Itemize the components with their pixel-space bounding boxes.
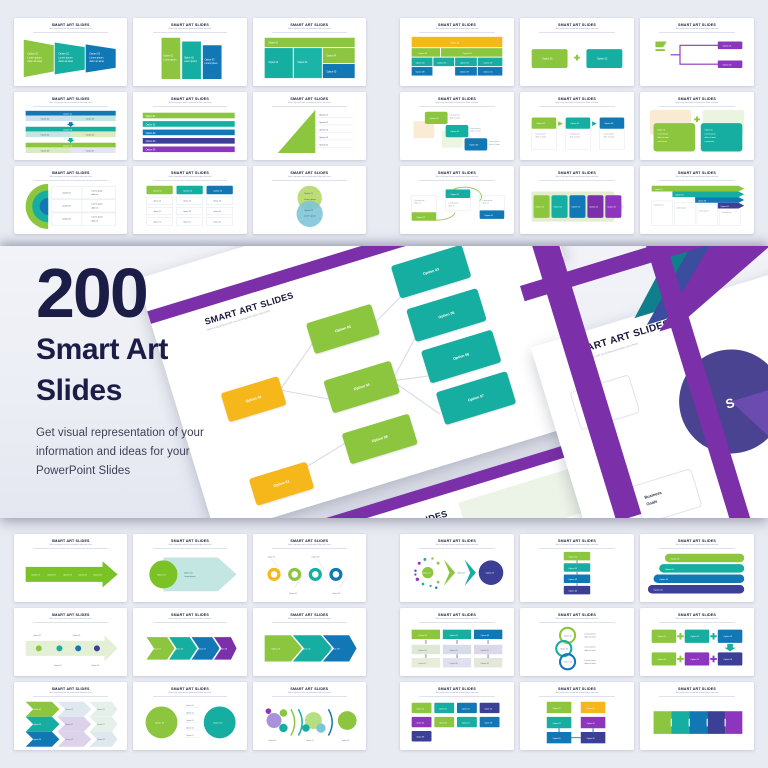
svg-text:Option 03: Option 03: [86, 118, 95, 121]
thumbnail-card[interactable]: SMART ART SLIDES Make a big impact with …: [133, 534, 246, 602]
thumbnail-card[interactable]: SMART ART SLIDES Make a big impact with …: [253, 608, 366, 676]
svg-text:Lorem ipsum: Lorem ipsum: [657, 133, 668, 136]
svg-text:Lorem ipsum: Lorem ipsum: [470, 127, 481, 130]
svg-text:Option 01: Option 01: [155, 721, 165, 724]
slide-subtitle: Make a big impact with our professional …: [33, 29, 108, 33]
slide-body: Option 01Option 02Option 03 Lorem ipsumd…: [526, 624, 628, 673]
slide-body: Option 01Option 02Option 03 Option 04Opt…: [526, 182, 628, 231]
svg-text:Option 08: Option 08: [484, 722, 492, 725]
svg-text:Option 06: Option 06: [586, 737, 594, 740]
svg-text:Option 05: Option 05: [63, 145, 73, 148]
slide-body: Option 01Option 03 Option 02: [406, 550, 508, 599]
slide-body: Option 01Option 02Option 03: [259, 698, 360, 747]
six-box-plus-grid-diagram: Option 01Option 02Option 03 Option 04Opt…: [646, 624, 748, 673]
svg-text:Option 05: Option 05: [97, 708, 105, 711]
thumbnail-card[interactable]: SMART ART SLIDES Make a big impact with …: [14, 92, 127, 160]
thumbnail-card[interactable]: SMART ART SLIDES Make a big impact with …: [400, 608, 514, 676]
svg-text:Option 02: Option 02: [184, 56, 195, 59]
svg-text:Option 02: Option 02: [449, 634, 458, 637]
hero-number: 200: [36, 262, 286, 325]
svg-text:Option 02: Option 02: [675, 194, 683, 197]
svg-text:Option 01: Option 01: [33, 634, 41, 637]
two-circles-list-diagram: Option 01Option 02 Option 03Option 04Opt…: [139, 698, 240, 747]
svg-text:Option 03: Option 03: [89, 53, 100, 56]
svg-text:Lorem ipsum: Lorem ipsum: [603, 133, 614, 136]
bracket-tree-diagram: Option 01Option 02: [646, 34, 748, 83]
svg-text:Option 01: Option 01: [535, 206, 544, 209]
svg-text:Option 05: Option 05: [93, 573, 102, 576]
slide-subtitle: Make a big impact with our professional …: [659, 619, 734, 623]
svg-text:Lorem ipsum: Lorem ipsum: [585, 659, 596, 662]
svg-text:Lorem ipsum: Lorem ipsum: [449, 114, 460, 117]
thumbnail-card[interactable]: SMART ART SLIDES Make a big impact with …: [133, 18, 246, 86]
svg-text:Option 04: Option 04: [78, 573, 87, 576]
svg-text:dolor sit amet: dolor sit amet: [449, 116, 460, 119]
hero-text-block: 200 Smart Art Slides Get visual represen…: [36, 262, 286, 481]
slide-subtitle: Make a big impact with our professional …: [659, 29, 734, 33]
svg-text:Option 01: Option 01: [267, 556, 275, 559]
svg-text:Option 07: Option 07: [462, 722, 470, 725]
svg-text:Option 02: Option 02: [450, 130, 460, 133]
horizontal-bars-diagram: Option 01Option 02Option 03 Option 04Opt…: [139, 108, 240, 157]
svg-text:Lorem ipsum: Lorem ipsum: [585, 632, 596, 635]
svg-text:Option 02: Option 02: [47, 573, 56, 576]
chevron-rows-diagram: Option 01Option 02Option 03 Option 04Opt…: [20, 698, 121, 747]
timeline-dots-diagram: Option 01Option 02 Option 03Option 04: [20, 624, 121, 673]
slide-body: Option 01Option 02 Option 03Option 04: [20, 624, 121, 673]
thumbnail-card[interactable]: SMART ART SLIDES Make a big impact with …: [400, 92, 514, 160]
svg-text:Option 02: Option 02: [33, 723, 41, 726]
slide-body: Option 01Option 02Option 03Option 04: [526, 550, 628, 599]
thumbnail-card[interactable]: SMART ART SLIDES Make a big impact with …: [253, 166, 366, 234]
svg-text:Option 05: Option 05: [146, 149, 157, 152]
svg-text:Option 07: Option 07: [186, 734, 194, 737]
svg-text:Option 03: Option 03: [484, 214, 493, 217]
svg-text:Option 02: Option 02: [306, 739, 314, 742]
svg-text:Lorem ipsum: Lorem ipsum: [91, 217, 103, 219]
thumbnail-card[interactable]: SMART ART SLIDES Make a big impact with …: [253, 92, 366, 160]
slide-body: Option 01Lorem ipsum Option 02Lorem ipsu…: [139, 34, 240, 83]
svg-text:dolor sit amet: dolor sit amet: [705, 136, 717, 139]
svg-text:Option 04: Option 04: [589, 206, 598, 209]
hero-heading-line2: Slides: [36, 374, 286, 407]
hero-paragraph-line2: information and ideas for your: [36, 443, 286, 462]
thumbnail-card[interactable]: SMART ART SLIDES Make a big impact with …: [520, 166, 634, 234]
slide-subtitle: Make a big impact with our professional …: [539, 177, 614, 181]
dot-chain-diagram: Option 01Option 02Option 03Option 04: [259, 550, 360, 599]
svg-text:Option 01: Option 01: [152, 647, 161, 650]
slide-subtitle: Make a big impact with our professional …: [153, 545, 228, 549]
svg-text:Option 04: Option 04: [654, 589, 664, 592]
slide-subtitle: Make a big impact with our professional …: [539, 29, 614, 33]
svg-text:Lorem ipsum: Lorem ipsum: [184, 576, 196, 578]
svg-text:Lorem ipsum: Lorem ipsum: [58, 56, 72, 59]
svg-text:Option 04: Option 04: [91, 664, 99, 667]
svg-text:dolor sit amet: dolor sit amet: [489, 143, 500, 146]
svg-text:Option 01: Option 01: [569, 556, 578, 559]
svg-text:consectetur: consectetur: [657, 140, 667, 143]
svg-text:Option 02: Option 02: [213, 721, 223, 724]
circle-arrow-diagram: Option 01 Option 02Lorem ipsum: [139, 550, 240, 599]
svg-text:Option 02: Option 02: [62, 204, 71, 207]
callout-card: Business Goals: [632, 468, 703, 518]
svg-text:Option 02: Option 02: [569, 567, 578, 570]
hero-paragraph-line3: PowerPoint Slides: [36, 462, 286, 481]
svg-text:Option 04: Option 04: [418, 649, 426, 652]
svg-text:Option 05: Option 05: [326, 71, 337, 74]
thumbnail-card[interactable]: SMART ART SLIDES Make a big impact with …: [14, 166, 127, 234]
svg-text:Option 09: Option 09: [97, 738, 105, 741]
svg-text:Option 01: Option 01: [722, 45, 732, 48]
thumbnail-card[interactable]: SMART ART SLIDES Make a big impact with …: [133, 166, 246, 234]
svg-text:Option 01: Option 01: [164, 55, 175, 58]
svg-text:Option 05: Option 05: [86, 134, 95, 137]
slide-subtitle: Make a big impact with our professional …: [419, 545, 494, 549]
svg-text:Option 04: Option 04: [319, 136, 329, 139]
svg-text:Option 04: Option 04: [41, 134, 50, 137]
hero-heading-line1: Smart Art: [36, 333, 286, 366]
slide-subtitle: Make a big impact with our professional …: [419, 177, 494, 181]
svg-text:Option 03: Option 03: [571, 206, 580, 209]
svg-text:Option 07: Option 07: [97, 723, 105, 726]
svg-text:Option 02: Option 02: [418, 52, 428, 55]
svg-text:Option 03: Option 03: [485, 572, 494, 575]
svg-text:dolor sit amet: dolor sit amet: [603, 135, 614, 138]
svg-text:Option 01: Option 01: [319, 114, 329, 117]
svg-text:Lorem ipsum: Lorem ipsum: [415, 199, 425, 202]
svg-text:Option 09: Option 09: [213, 210, 221, 213]
thumbnail-card[interactable]: SMART ART SLIDES Make a big impact with …: [400, 534, 514, 602]
svg-text:Lorem ipsum: Lorem ipsum: [654, 204, 664, 207]
svg-text:Option 08: Option 08: [65, 738, 73, 741]
svg-text:Option 03: Option 03: [197, 647, 206, 650]
svg-text:Option 02: Option 02: [268, 61, 279, 64]
svg-text:Lorem ipsum: Lorem ipsum: [304, 215, 316, 218]
svg-text:dolor sit amet: dolor sit amet: [470, 130, 481, 133]
svg-text:Option 01: Option 01: [542, 58, 553, 61]
svg-text:Option 08: Option 08: [415, 71, 425, 74]
svg-text:Option 02: Option 02: [722, 64, 732, 67]
stepped-cards-diagram: Option 01Option 02Option 03 Lorem ipsumd…: [406, 108, 508, 157]
svg-text:Option 03: Option 03: [330, 647, 340, 650]
svg-text:Option 01: Option 01: [450, 42, 460, 45]
slide-body: Option 01Option 02: [646, 34, 748, 83]
svg-text:Option 05: Option 05: [183, 200, 191, 203]
matrix-table-diagram: Option 01 Option 02Option 03 Option 04Op…: [259, 34, 360, 83]
svg-text:Option 07: Option 07: [418, 662, 426, 665]
svg-text:Option 02: Option 02: [439, 707, 447, 710]
vertical-bars-diagram: Option 01Lorem ipsum Option 02Lorem ipsu…: [139, 34, 240, 83]
thumbnail-card[interactable]: SMART ART SLIDES Make a big impact with …: [640, 608, 754, 676]
thumbnail-card[interactable]: SMART ART SLIDES Make a big impact with …: [520, 682, 634, 750]
svg-text:Option 03: Option 03: [552, 722, 560, 725]
svg-text:Option 01: Option 01: [63, 113, 73, 116]
svg-text:Option 07: Option 07: [153, 210, 161, 213]
slide-body: Option 01Lorem ipsum Option 02Lorem ipsu…: [259, 182, 360, 231]
slide-body: Option 01Lorem ipsumdolor sit ametconsec…: [646, 108, 748, 157]
svg-text:Option 01: Option 01: [418, 634, 427, 637]
svg-text:Option 02: Option 02: [597, 58, 608, 61]
svg-text:Option 04: Option 04: [586, 722, 594, 725]
svg-text:dolor sit amet: dolor sit amet: [89, 60, 104, 63]
svg-text:Option 03: Option 03: [319, 129, 329, 132]
thumbnail-card[interactable]: SMART ART SLIDES Make a big impact with …: [14, 608, 127, 676]
slide-body: Option 01Option 02Option 03 Option 04Opt…: [20, 550, 121, 599]
slide-subtitle: Make a big impact with our professional …: [659, 545, 734, 549]
svg-text:Option 02: Option 02: [570, 122, 580, 125]
slide-body: Option 01Option 02Option 03Option 04 Lor…: [646, 182, 748, 231]
svg-text:Option 03: Option 03: [297, 61, 308, 64]
slide-subtitle: Make a big impact with our professional …: [153, 177, 228, 181]
thumbnail-card[interactable]: SMART ART SLIDES Make a big impact with …: [400, 166, 514, 234]
svg-text:Option 01: Option 01: [552, 707, 560, 710]
svg-text:Option 01: Option 01: [450, 193, 459, 196]
svg-text:Option 03: Option 03: [341, 739, 349, 742]
svg-text:dolor sit amet: dolor sit amet: [569, 135, 580, 138]
svg-text:Option 02: Option 02: [553, 206, 562, 209]
slide-subtitle: Make a big impact with our professional …: [419, 103, 494, 107]
slide-subtitle: Make a big impact with our professional …: [153, 103, 228, 107]
svg-text:Lorem ipsum: Lorem ipsum: [28, 56, 42, 59]
svg-text:dolor sit: dolor sit: [91, 219, 98, 222]
svg-text:Option 01: Option 01: [304, 192, 314, 195]
svg-text:Option 02: Option 02: [304, 209, 314, 212]
thumbnail-card[interactable]: SMART ART SLIDES Make a big impact with …: [640, 92, 754, 160]
svg-text:Lorem ipsum: Lorem ipsum: [91, 204, 103, 206]
svg-text:Lorem ipsum: Lorem ipsum: [482, 199, 492, 202]
svg-text:Option 08: Option 08: [449, 662, 457, 665]
slide-subtitle: Make a big impact with our professional …: [539, 103, 614, 107]
svg-text:Option 02: Option 02: [58, 53, 69, 56]
thumbnail-card[interactable]: SMART ART SLIDES Make a big impact with …: [520, 92, 634, 160]
svg-text:Option 02: Option 02: [457, 572, 465, 575]
svg-text:Lorem ipsum: Lorem ipsum: [722, 211, 732, 214]
hero-banner: Option 01 Option 02 SMART ART SLIDES Mak…: [0, 246, 768, 518]
thumbnail-card[interactable]: SMART ART SLIDES Make a big impact with …: [253, 682, 366, 750]
slide-subtitle: Make a big impact with our professional …: [33, 177, 108, 181]
poster-page: SMART ART SLIDES Make a big impact with …: [0, 0, 768, 768]
svg-text:dolor sit amet: dolor sit amet: [657, 136, 669, 139]
slide-body: Option 01Option 02 Option 03Option 04Opt…: [139, 698, 240, 747]
svg-text:Option 07: Option 07: [483, 61, 493, 64]
dot-swirl-flow-diagram: Option 01Option 03 Option 02: [406, 550, 508, 599]
svg-text:Option 03: Option 03: [698, 199, 706, 202]
svg-text:Option 12: Option 12: [213, 220, 221, 223]
thumbnail-card[interactable]: SMART ART SLIDES Make a big impact with …: [133, 92, 246, 160]
svg-text:Option 09: Option 09: [460, 71, 470, 74]
curved-cycle-diagram: Option 01Option 02Option 03 Lorem ipsumd…: [406, 182, 508, 231]
svg-text:Option 01: Option 01: [153, 189, 163, 192]
org-hierarchy-diagram: Option 01 Option 02Option 03 Option 04Op…: [406, 34, 508, 83]
chevron-row-diagram: Option 01Option 02Option 03Option 04: [139, 624, 240, 673]
slide-body: Option 01Option 02Option 03 Option 04Opt…: [20, 698, 121, 747]
svg-text:Option 02: Option 02: [705, 129, 713, 132]
svg-text:Option 01: Option 01: [28, 53, 39, 56]
slide-body: Option 01Option 02Option 03Option 04: [259, 550, 360, 599]
svg-text:Option 03: Option 03: [63, 573, 72, 576]
chevron-squares-diagram: Option 01Option 02Option 03 Option 04Opt…: [526, 182, 628, 231]
triangle-list-diagram: Option 01Option 02Option 03 Option 04Opt…: [259, 108, 360, 157]
thumbnail-card[interactable]: SMART ART SLIDES Make a big impact with …: [400, 682, 514, 750]
svg-text:Option 06: Option 06: [723, 658, 732, 661]
svg-text:Option 01: Option 01: [146, 115, 157, 118]
svg-text:Option 04: Option 04: [415, 61, 425, 64]
svg-text:Option 01: Option 01: [416, 707, 424, 710]
svg-text:Option 01: Option 01: [671, 558, 681, 561]
svg-text:Option 04: Option 04: [569, 590, 578, 593]
top-right-thumbnail-grid: SMART ART SLIDES Make a big impact with …: [400, 18, 754, 234]
vertical-chain-diagram: Option 01Option 02Option 03Option 04: [526, 550, 628, 599]
thumbnail-card[interactable]: SMART ART SLIDES Make a big impact with …: [133, 682, 246, 750]
thumbnail-card[interactable]: SMART ART SLIDES Make a big impact with …: [14, 534, 127, 602]
slide-subtitle: Make a big impact with our professional …: [419, 693, 494, 697]
slide-body: Option 01Option 02: [526, 34, 628, 83]
slide-subtitle: Make a big impact with our professional …: [153, 29, 228, 33]
svg-text:dolor sit: dolor sit: [449, 205, 455, 208]
svg-text:Option 03: Option 03: [205, 58, 216, 61]
hero-paragraph-line1: Get visual representation of your: [36, 424, 286, 443]
svg-text:Option 03: Option 03: [463, 52, 473, 55]
svg-text:dolor sit amet: dolor sit amet: [585, 636, 597, 639]
slide-body: Option 01 Option 02Lorem ipsum: [139, 550, 240, 599]
thumbnail-card[interactable]: SMART ART SLIDES Make a big impact with …: [253, 18, 366, 86]
svg-text:Option 02: Option 02: [289, 592, 297, 595]
svg-text:Option 02: Option 02: [146, 123, 157, 126]
thumbnail-card[interactable]: SMART ART SLIDES Make a big impact with …: [640, 682, 754, 750]
svg-text:Option 01: Option 01: [422, 572, 431, 575]
bottom-right-thumbnail-grid: SMART ART SLIDES Make a big impact with …: [400, 534, 754, 750]
svg-text:Option 03: Option 03: [62, 218, 71, 221]
svg-text:Lorem ipsum: Lorem ipsum: [89, 56, 103, 59]
slide-subtitle: Make a big impact with our professional …: [419, 619, 494, 623]
three-card-flow-diagram: Option 01Option 02Option 03 Lorem ipsumd…: [526, 108, 628, 157]
svg-text:Option 02: Option 02: [54, 664, 62, 667]
slide-body: Option 01Lorem ipsumdolor sit amet Optio…: [20, 34, 121, 83]
thumbnail-card[interactable]: SMART ART SLIDES Make a big impact with …: [520, 18, 634, 86]
svg-text:Option 08: Option 08: [183, 210, 191, 213]
three-col-stack-diagram: Option 01Option 02Option 03 Option 04Opt…: [406, 624, 508, 673]
slide-subtitle: Make a big impact with our professional …: [33, 545, 108, 549]
svg-text:Option 02: Option 02: [665, 568, 675, 571]
svg-text:Option 10: Option 10: [153, 220, 161, 223]
svg-text:Lorem ipsum: Lorem ipsum: [535, 133, 546, 136]
svg-text:Option 05: Option 05: [319, 144, 329, 147]
svg-text:dolor sit: dolor sit: [91, 206, 98, 209]
svg-text:Option 06: Option 06: [460, 61, 470, 64]
thumbnail-card[interactable]: SMART ART SLIDES Make a big impact with …: [14, 682, 127, 750]
svg-text:Option 05: Option 05: [416, 722, 424, 725]
slide-body: Option 01Option 02Option 03Option 04: [139, 624, 240, 673]
slide-body: Option 01Option 02Option 03 Option 04Opt…: [406, 624, 508, 673]
slide-subtitle: Make a big impact with our professional …: [272, 103, 347, 107]
svg-text:Option 04: Option 04: [484, 707, 492, 710]
svg-text:Option 01: Option 01: [564, 634, 572, 637]
svg-text:Option 03: Option 03: [469, 143, 479, 146]
slide-subtitle: Make a big impact with our professional …: [272, 29, 347, 33]
thumbnail-card[interactable]: SMART ART SLIDES Make a big impact with …: [253, 534, 366, 602]
svg-text:Option 03: Option 03: [462, 707, 470, 710]
thumbnail-card[interactable]: SMART ART SLIDES Make a big impact with …: [640, 18, 754, 86]
svg-text:Option 05: Option 05: [437, 61, 447, 64]
svg-text:Option 02: Option 02: [560, 648, 568, 651]
bubble-clusters-diagram: Option 01Option 02Option 03: [259, 698, 360, 747]
svg-text:Lorem ipsum: Lorem ipsum: [164, 58, 177, 61]
svg-text:Option 05: Option 05: [607, 206, 616, 209]
svg-text:Option 03: Option 03: [604, 122, 614, 125]
svg-text:Option 03: Option 03: [146, 132, 157, 135]
thumbnail-card[interactable]: SMART ART SLIDES Make a big impact with …: [520, 534, 634, 602]
svg-text:Option 01: Option 01: [268, 41, 279, 44]
svg-text:dolor sit: dolor sit: [415, 202, 421, 205]
svg-text:Option 10: Option 10: [483, 71, 493, 74]
top-left-thumbnail-grid: SMART ART SLIDES Make a big impact with …: [14, 18, 366, 234]
slide-subtitle: Make a big impact with our professional …: [33, 619, 108, 623]
thumbnail-card[interactable]: SMART ART SLIDES Make a big impact with …: [640, 534, 754, 602]
svg-text:Option 06: Option 06: [41, 150, 50, 153]
slide-body: Option 01Option 02Option 03 Option 04Opt…: [139, 108, 240, 157]
thumbnail-card[interactable]: SMART ART SLIDES Make a big impact with …: [133, 608, 246, 676]
svg-text:Option 03: Option 03: [213, 189, 223, 192]
two-big-panels-diagram: Option 01Lorem ipsumdolor sit ametconsec…: [646, 108, 748, 157]
thumbnail-card[interactable]: SMART ART SLIDES Make a big impact with …: [14, 18, 127, 86]
svg-text:consectetur: consectetur: [705, 140, 715, 143]
spiral-links-diagram: Option 01Option 02Option 03 Lorem ipsumd…: [526, 624, 628, 673]
svg-text:Option 05: Option 05: [690, 658, 699, 661]
slide-body: Option 01Option 02Option 03 Lorem ipsumd…: [406, 182, 508, 231]
connected-matrix-diagram: Option 01Option 02 Option 03Option 04 Op…: [526, 698, 628, 747]
svg-text:Option 03: Option 03: [73, 634, 81, 637]
big-chevron-diagram: Option 01Option 02Option 03: [259, 624, 360, 673]
svg-text:Option 09: Option 09: [481, 662, 489, 665]
svg-text:Option 04: Option 04: [326, 55, 337, 58]
two-box-plus-diagram: Option 01Option 02: [526, 34, 628, 83]
slide-subtitle: Make a big impact with our professional …: [272, 693, 347, 697]
slide-subtitle: Make a big impact with our professional …: [659, 693, 734, 697]
svg-text:Option 05: Option 05: [552, 737, 560, 740]
svg-text:dolor sit amet: dolor sit amet: [28, 60, 43, 63]
thumbnail-card[interactable]: SMART ART SLIDES Make a big impact with …: [400, 18, 514, 86]
svg-text:Option 01: Option 01: [157, 573, 167, 576]
slide-subtitle: Make a big impact with our professional …: [659, 103, 734, 107]
svg-text:Option 07: Option 07: [86, 150, 95, 153]
svg-text:Option 01: Option 01: [657, 129, 665, 132]
svg-text:Option 06: Option 06: [439, 722, 447, 725]
slide-subtitle: Make a big impact with our professional …: [539, 693, 614, 697]
slide-body: Option 01Option 02Option 03Option 04: [646, 550, 748, 599]
svg-text:Option 04: Option 04: [186, 712, 194, 715]
thumbnail-card[interactable]: SMART ART SLIDES Make a big impact with …: [640, 166, 754, 234]
svg-text:Lorem ipsum: Lorem ipsum: [489, 140, 500, 143]
svg-text:Option 06: Option 06: [213, 200, 221, 203]
svg-text:Option 05: Option 05: [449, 649, 457, 652]
svg-text:Lorem ipsum: Lorem ipsum: [705, 133, 716, 136]
thumbnail-card[interactable]: SMART ART SLIDES Make a big impact with …: [520, 608, 634, 676]
slide-body: Option 01Option 02Option 03 Option 04Opt…: [259, 108, 360, 157]
svg-text:Option 06: Option 06: [186, 727, 194, 730]
slide-subtitle: Make a big impact with our professional …: [539, 545, 614, 549]
svg-text:dolor sit amet: dolor sit amet: [535, 135, 546, 138]
long-arrow-diagram: Option 01Option 02Option 03 Option 04Opt…: [20, 550, 121, 599]
svg-text:Option 02: Option 02: [183, 189, 193, 192]
slide-body: Option 01Option 02Option 03 Lorem ipsumd…: [20, 182, 121, 231]
svg-text:Option 01: Option 01: [33, 708, 41, 711]
svg-text:Option 03: Option 03: [723, 635, 732, 638]
slide-subtitle: Make a big impact with our professional …: [272, 177, 347, 181]
slide-body: Option 01 Option 02Option 03 Option 04Op…: [406, 34, 508, 83]
svg-text:Option 06: Option 06: [65, 723, 73, 726]
svg-text:Option 04: Option 04: [146, 140, 157, 143]
slide-body: Option 01Option 02 Option 03Option 04 Op…: [526, 698, 628, 747]
